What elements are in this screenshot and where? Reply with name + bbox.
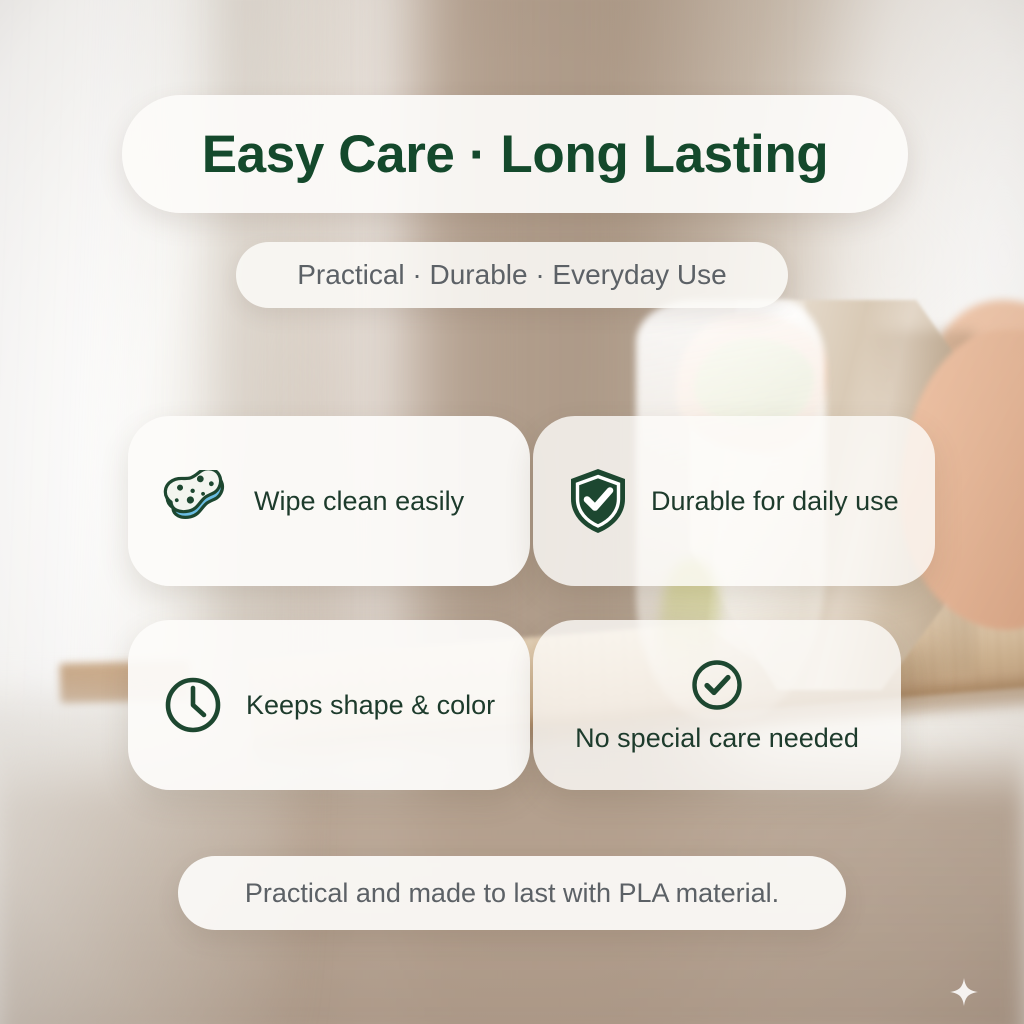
feature-card-no-special-care[interactable]: No special care needed [533,620,901,790]
footer-pill: Practical and made to last with PLA mate… [178,856,846,930]
clock-icon [162,674,224,736]
shield-check-icon [567,466,629,536]
feature-card-keeps-shape[interactable]: Keeps shape & color [128,620,530,790]
sponge-icon [162,470,232,532]
feature-card-wipe-clean[interactable]: Wipe clean easily [128,416,530,586]
feature-label-durable-daily: Durable for daily use [651,486,899,517]
content-layer: Easy Care · Long Lasting Practical · Dur… [0,0,1024,1024]
feature-card-durable-daily[interactable]: Durable for daily use [533,416,935,586]
subtitle-pill: Practical · Durable · Everyday Use [236,242,788,308]
feature-label-no-special-care: No special care needed [575,723,859,754]
feature-label-keeps-shape: Keeps shape & color [246,690,495,721]
sparkle-icon [950,978,978,1006]
footer-note: Practical and made to last with PLA mate… [245,878,779,909]
feature-label-wipe-clean: Wipe clean easily [254,486,464,517]
page-subtitle: Practical · Durable · Everyday Use [297,259,726,291]
poster-canvas: Easy Care · Long Lasting Practical · Dur… [0,0,1024,1024]
title-pill: Easy Care · Long Lasting [122,95,908,213]
page-title: Easy Care · Long Lasting [202,124,829,185]
circle-check-icon [689,657,745,713]
